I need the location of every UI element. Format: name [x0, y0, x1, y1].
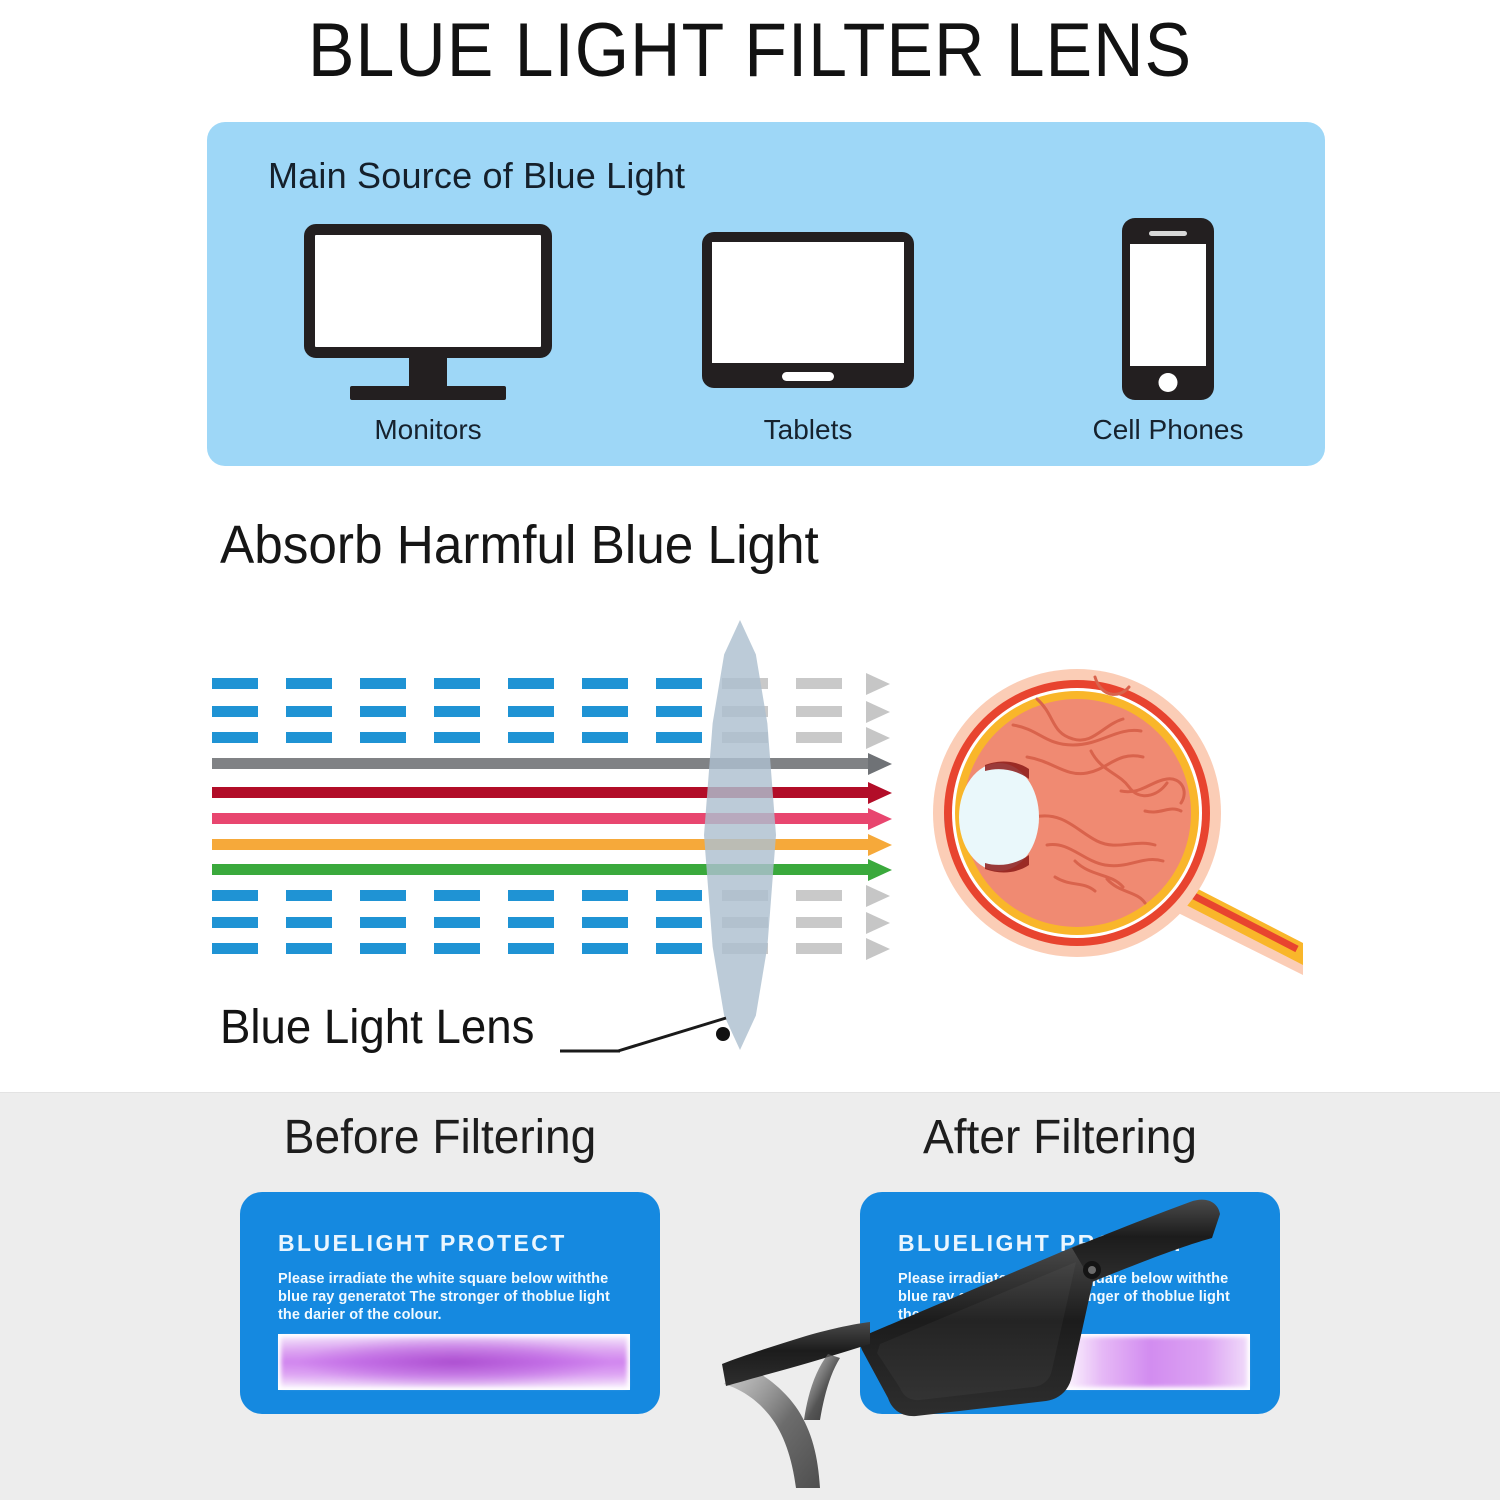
before-test-strip-frame: [278, 1334, 630, 1390]
phone-speaker: [1149, 231, 1187, 236]
before-card-heading: BLUELIGHT PROTECT: [278, 1230, 567, 1257]
ray-gray-ray: [212, 758, 892, 769]
device-label-monitors: Monitors: [278, 414, 578, 446]
tablet-icon: [658, 218, 958, 404]
human-eye-anatomy-icon: [905, 665, 1305, 975]
phone-screen: [1130, 244, 1206, 366]
device-label-tablets: Tablets: [658, 414, 958, 446]
source-panel-heading: Main Source of Blue Light: [268, 155, 685, 197]
monitor-neck: [409, 358, 447, 388]
monitor-base: [350, 386, 506, 400]
monitor-screen: [304, 224, 552, 358]
phone-home-button: [1159, 373, 1178, 392]
lens-leader-line: [560, 1015, 740, 1055]
before-filtering-card: BLUELIGHT PROTECT Please irradiate the w…: [240, 1192, 660, 1414]
tablet-home-bar: [782, 372, 834, 381]
device-label-cell-phones: Cell Phones: [1018, 414, 1318, 446]
before-filtering-title: Before Filtering: [190, 1110, 689, 1165]
tablet-frame: [702, 232, 914, 388]
page-title: BLUE LIGHT FILTER LENS: [60, 8, 1440, 94]
monitor-icon: [278, 218, 578, 404]
before-test-strip: [281, 1337, 627, 1387]
cell-phone-icon: [1018, 218, 1318, 404]
device-tablets: Tablets: [658, 218, 958, 404]
ray-green-ray: [212, 864, 892, 875]
ray-pink-ray: [212, 813, 892, 824]
phone-frame: [1122, 218, 1214, 400]
ray-blue-ray-1: [0, 678, 900, 689]
ray-red-ray: [212, 787, 892, 798]
ray-orange-ray: [212, 839, 892, 850]
comparison-section: Before Filtering BLUELIGHT PROTECT Pleas…: [0, 1092, 1500, 1500]
device-monitors: Monitors: [278, 218, 578, 404]
after-filtering-title: After Filtering: [810, 1110, 1309, 1165]
tablet-screen: [712, 242, 904, 363]
section-divider: [0, 1092, 1500, 1093]
eyeglasses-icon: [720, 1158, 1280, 1488]
before-card-body: Please irradiate the white square below …: [278, 1270, 630, 1324]
blue-light-lens-label: Blue Light Lens: [220, 1000, 534, 1055]
absorb-heading: Absorb Harmful Blue Light: [220, 514, 819, 576]
device-cell-phones: Cell Phones: [1018, 218, 1318, 404]
